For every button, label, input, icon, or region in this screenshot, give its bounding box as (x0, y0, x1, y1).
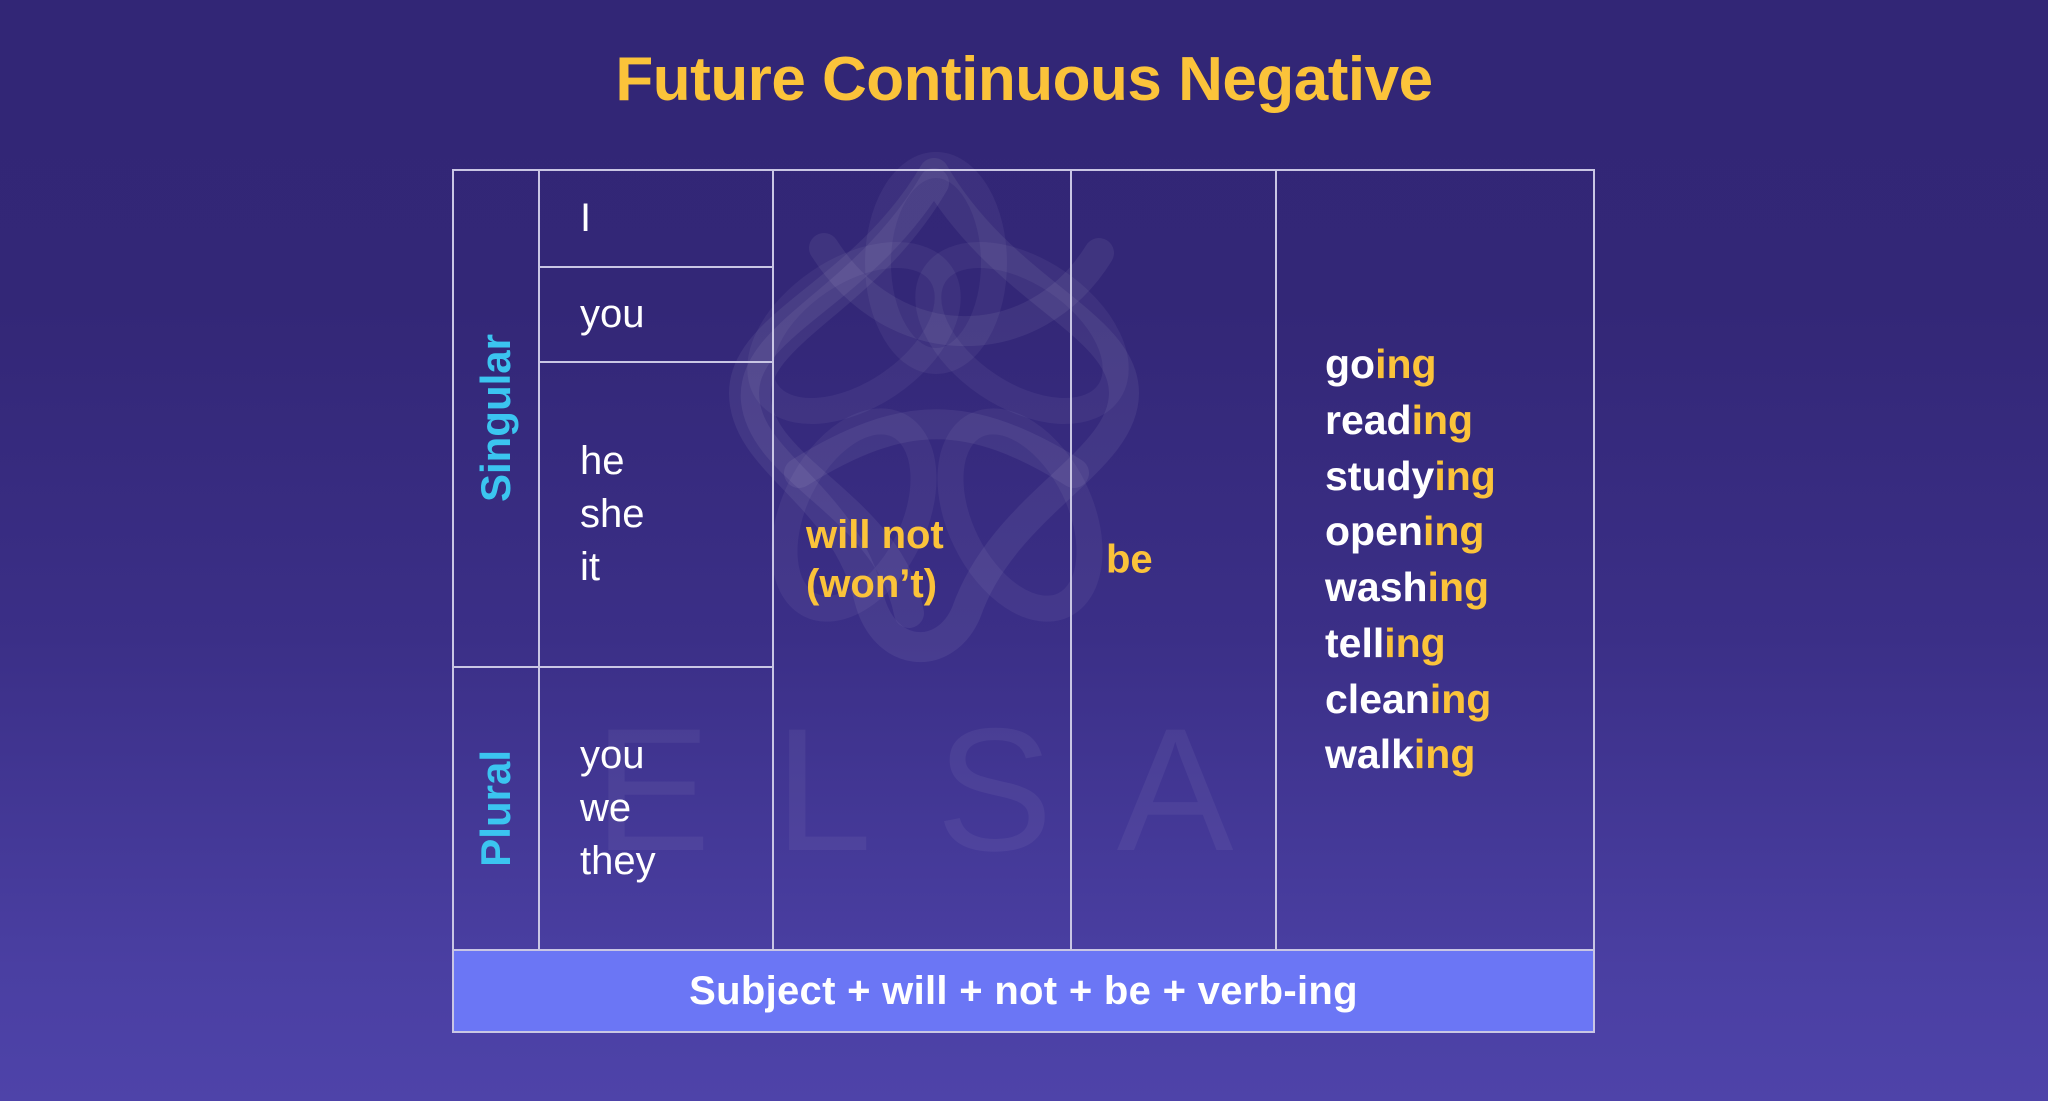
verb-stem: clean (1325, 676, 1430, 722)
verb-suffix: ing (1434, 453, 1495, 499)
table-grid: ELSA Singular Plural I you he she it (452, 169, 1595, 951)
verb-item: going (1325, 337, 1593, 393)
verb-item: telling (1325, 616, 1593, 672)
auxiliary-line-1: will not (806, 511, 1070, 560)
pronoun: you (580, 288, 772, 341)
subject-cell-you-we-they: you we they (540, 666, 772, 949)
subject-cell-you: you (540, 266, 772, 361)
column-auxiliary: will not (won’t) (772, 171, 1070, 949)
pronoun: they (580, 835, 772, 888)
verb-suffix: ing (1375, 341, 1436, 387)
verb-suffix: ing (1412, 397, 1473, 443)
verb-stem: go (1325, 341, 1375, 387)
verb-suffix: ing (1430, 676, 1491, 722)
page-title: Future Continuous Negative (0, 46, 2048, 114)
verb-suffix: ing (1423, 508, 1484, 554)
auxiliary-line-2: (won’t) (806, 560, 1070, 609)
column-subject: I you he she it you we they (538, 171, 772, 949)
pronoun: she (580, 488, 772, 541)
subject-cell-he-she-it: he she it (540, 361, 772, 666)
pronoun: I (580, 192, 772, 245)
auxiliary-text: will not (won’t) (774, 511, 1070, 609)
verb-stem: walk (1325, 731, 1414, 777)
verb-list: goingreadingstudyingopeningwashingtellin… (1277, 337, 1593, 783)
pronoun: you (580, 729, 772, 782)
pronoun: we (580, 782, 772, 835)
verb-stem: read (1325, 397, 1412, 443)
column-number: Singular Plural (454, 171, 538, 949)
cell-singular: Singular (454, 171, 538, 666)
verb-item: washing (1325, 560, 1593, 616)
pronoun: it (580, 541, 772, 594)
verb-stem: tell (1325, 620, 1384, 666)
verb-stem: wash (1325, 564, 1428, 610)
conjugation-table: ELSA Singular Plural I you he she it (452, 169, 1595, 1033)
verb-suffix: ing (1428, 564, 1489, 610)
verb-item: reading (1325, 393, 1593, 449)
formula-text: Subject + will + not + be + verb-ing (689, 969, 1358, 1014)
verb-item: cleaning (1325, 672, 1593, 728)
verb-item: opening (1325, 504, 1593, 560)
verb-item: walking (1325, 727, 1593, 783)
verb-item: studying (1325, 449, 1593, 505)
verb-suffix: ing (1384, 620, 1445, 666)
label-singular: Singular (472, 334, 520, 502)
column-verbs: goingreadingstudyingopeningwashingtellin… (1275, 171, 1593, 949)
verb-stem: open (1325, 508, 1423, 554)
label-plural: Plural (472, 750, 520, 867)
be-text: be (1072, 536, 1275, 585)
cell-plural: Plural (454, 666, 538, 949)
verb-suffix: ing (1414, 731, 1475, 777)
subject-cell-i: I (540, 171, 772, 266)
verb-stem: study (1325, 453, 1434, 499)
column-be: be (1070, 171, 1275, 949)
formula-bar: Subject + will + not + be + verb-ing (452, 951, 1595, 1033)
pronoun: he (580, 435, 772, 488)
